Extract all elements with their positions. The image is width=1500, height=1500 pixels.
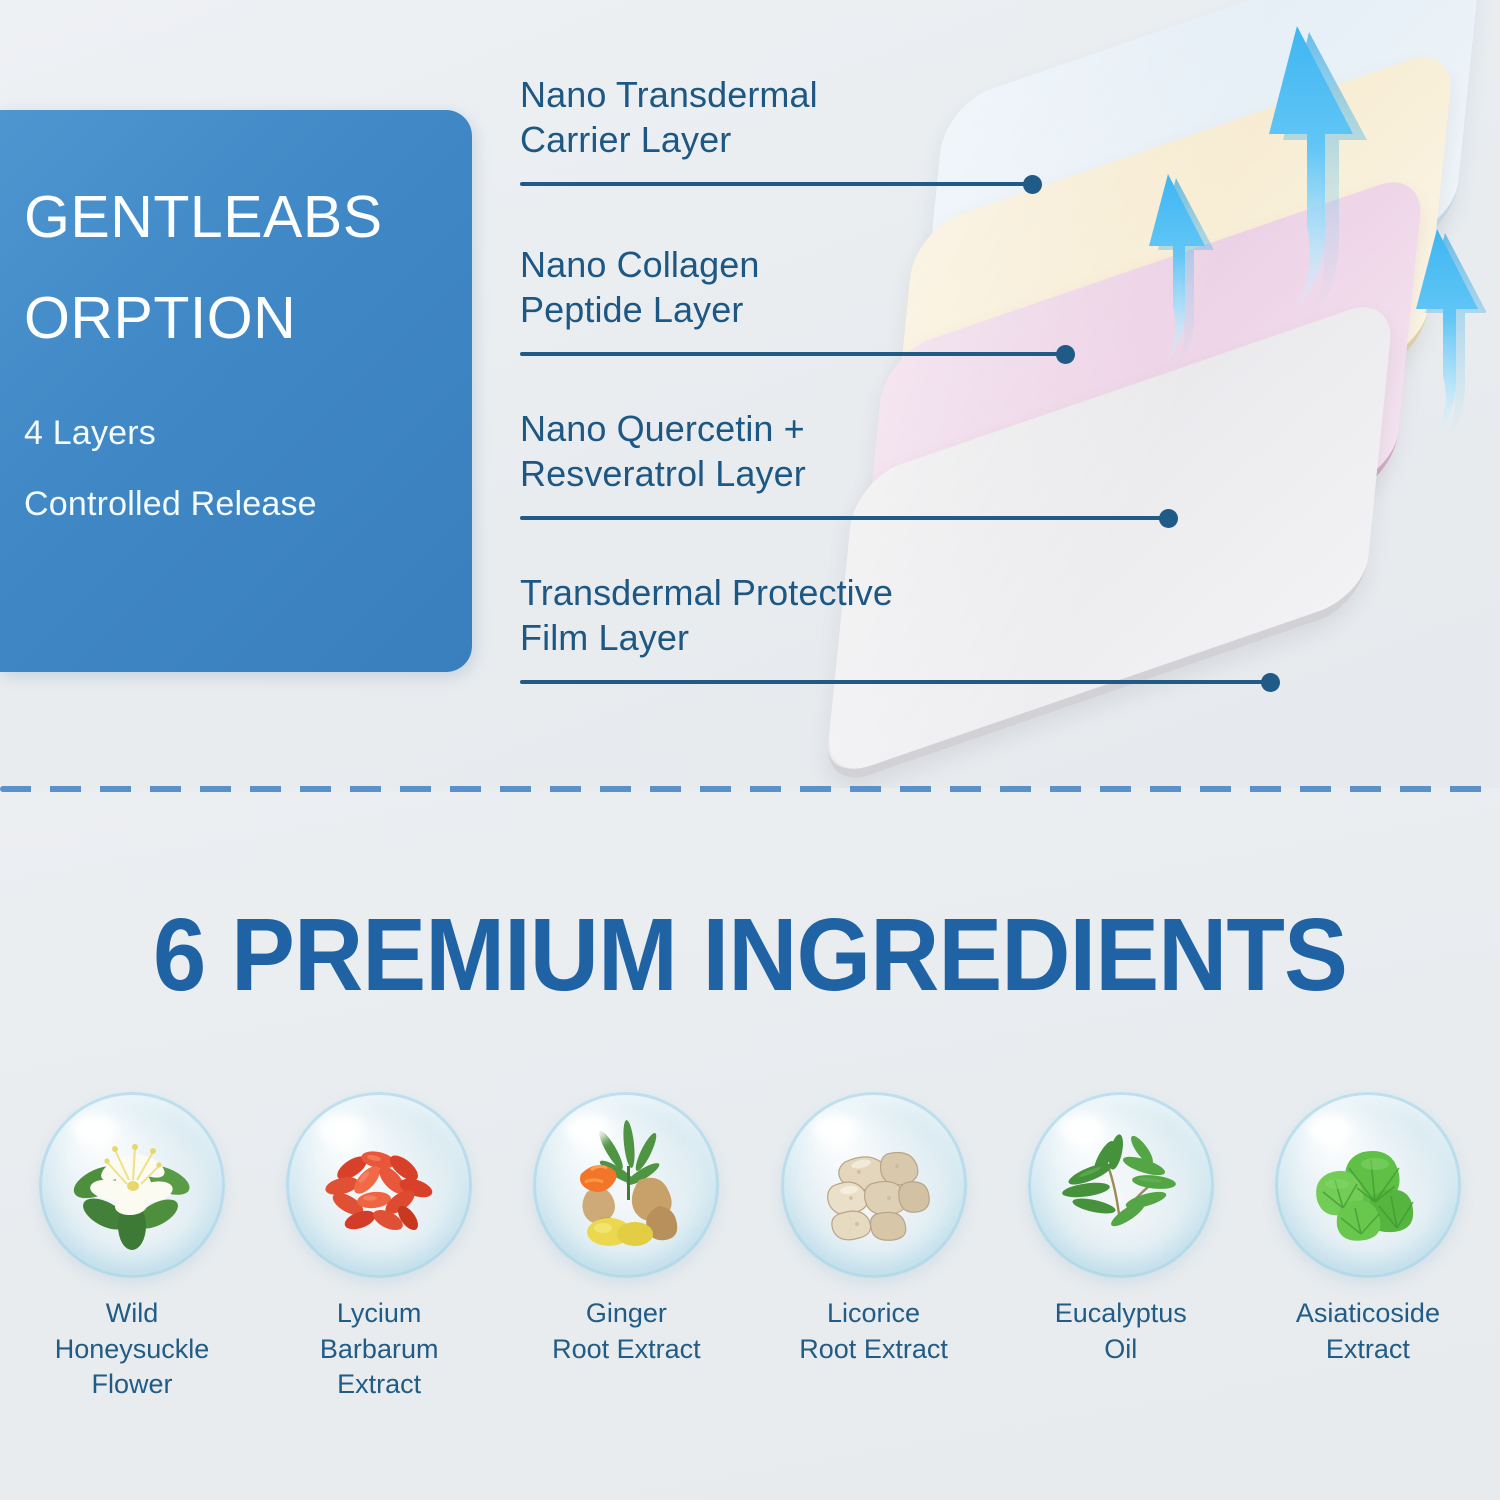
brand-feature-layers: 4 Layers — [24, 414, 472, 453]
ingredient-label: Eucalyptus Oil — [1055, 1296, 1187, 1367]
callout-endpoint-dot-icon — [1261, 673, 1280, 692]
callout-endpoint-dot-icon — [1159, 509, 1178, 528]
callout-nano-collagen-peptide-layer: Nano Collagen Peptide Layer — [520, 242, 759, 332]
ingredient-item-eucalyptus-oil[interactable]: Eucalyptus Oil — [1007, 1092, 1235, 1492]
ingredient-label: Lycium Barbarum Extract — [320, 1296, 439, 1403]
callout-transdermal-protective-film-layer: Transdermal Protective Film Layer — [520, 570, 893, 660]
ingredients-heading: 6 PREMIUM INGREDIENTS — [53, 896, 1448, 1014]
ingredient-item-licorice-root[interactable]: Licorice Root Extract — [760, 1092, 988, 1492]
brand-name-line-1: GENTLEABS — [24, 188, 472, 247]
ingredient-bubble — [533, 1092, 719, 1278]
brand-highlight-card: GENTLEABS ORPTION 4 Layers Controlled Re… — [0, 110, 472, 672]
ingredient-item-ginger-root[interactable]: Ginger Root Extract — [512, 1092, 740, 1492]
ingredient-bubble — [781, 1092, 967, 1278]
bubble-rim — [1028, 1092, 1214, 1278]
ingredients-count: 6 — [153, 897, 205, 1012]
ingredient-label: Asiaticoside Extract — [1296, 1296, 1440, 1367]
ingredient-item-lycium-barbarum[interactable]: Lycium Barbarum Extract — [265, 1092, 493, 1492]
ingredients-heading-text: PREMIUM INGREDIENTS — [205, 897, 1347, 1012]
ingredient-bubble — [1028, 1092, 1214, 1278]
ingredient-bubble — [39, 1092, 225, 1278]
brand-feature-release: Controlled Release — [24, 485, 472, 524]
callout-leader-line — [520, 352, 1065, 356]
callout-leader-line — [520, 680, 1270, 684]
ingredient-item-honeysuckle[interactable]: Wild Honeysuckle Flower — [18, 1092, 246, 1492]
callout-leader-line — [520, 182, 1032, 186]
ingredient-bubble — [1275, 1092, 1461, 1278]
premium-ingredients-section: 6 PREMIUM INGREDIENTS — [0, 792, 1500, 1500]
ingredient-label: Ginger Root Extract — [552, 1296, 701, 1367]
callout-nano-transdermal-carrier-layer: Nano Transdermal Carrier Layer — [520, 72, 818, 162]
ingredient-item-asiaticoside[interactable]: Asiaticoside Extract — [1254, 1092, 1482, 1492]
callout-label: Transdermal Protective Film Layer — [520, 570, 893, 660]
callout-leader-line — [520, 516, 1168, 520]
breathability-arrow-icon — [1125, 170, 1213, 370]
bubble-rim — [286, 1092, 472, 1278]
ingredient-label: Licorice Root Extract — [799, 1296, 948, 1367]
layer-technology-section: GENTLEABS ORPTION 4 Layers Controlled Re… — [0, 0, 1500, 788]
breathability-arrow-icon — [1235, 22, 1367, 322]
bubble-rim — [1275, 1092, 1461, 1278]
callout-endpoint-dot-icon — [1056, 345, 1075, 364]
ingredient-label: Wild Honeysuckle Flower — [55, 1296, 210, 1403]
callout-label: Nano Quercetin + Resveratrol Layer — [520, 406, 806, 496]
bubble-rim — [39, 1092, 225, 1278]
callout-label: Nano Transdermal Carrier Layer — [520, 72, 818, 162]
breathability-arrow-icon — [1390, 225, 1486, 445]
brand-name-line-2: ORPTION — [24, 289, 472, 348]
bubble-rim — [781, 1092, 967, 1278]
callout-label: Nano Collagen Peptide Layer — [520, 242, 759, 332]
ingredient-bubble — [286, 1092, 472, 1278]
bubble-rim — [533, 1092, 719, 1278]
ingredients-grid: Wild Honeysuckle Flower — [0, 1092, 1500, 1492]
callout-endpoint-dot-icon — [1023, 175, 1042, 194]
callout-nano-quercetin-resveratrol-layer: Nano Quercetin + Resveratrol Layer — [520, 406, 806, 496]
